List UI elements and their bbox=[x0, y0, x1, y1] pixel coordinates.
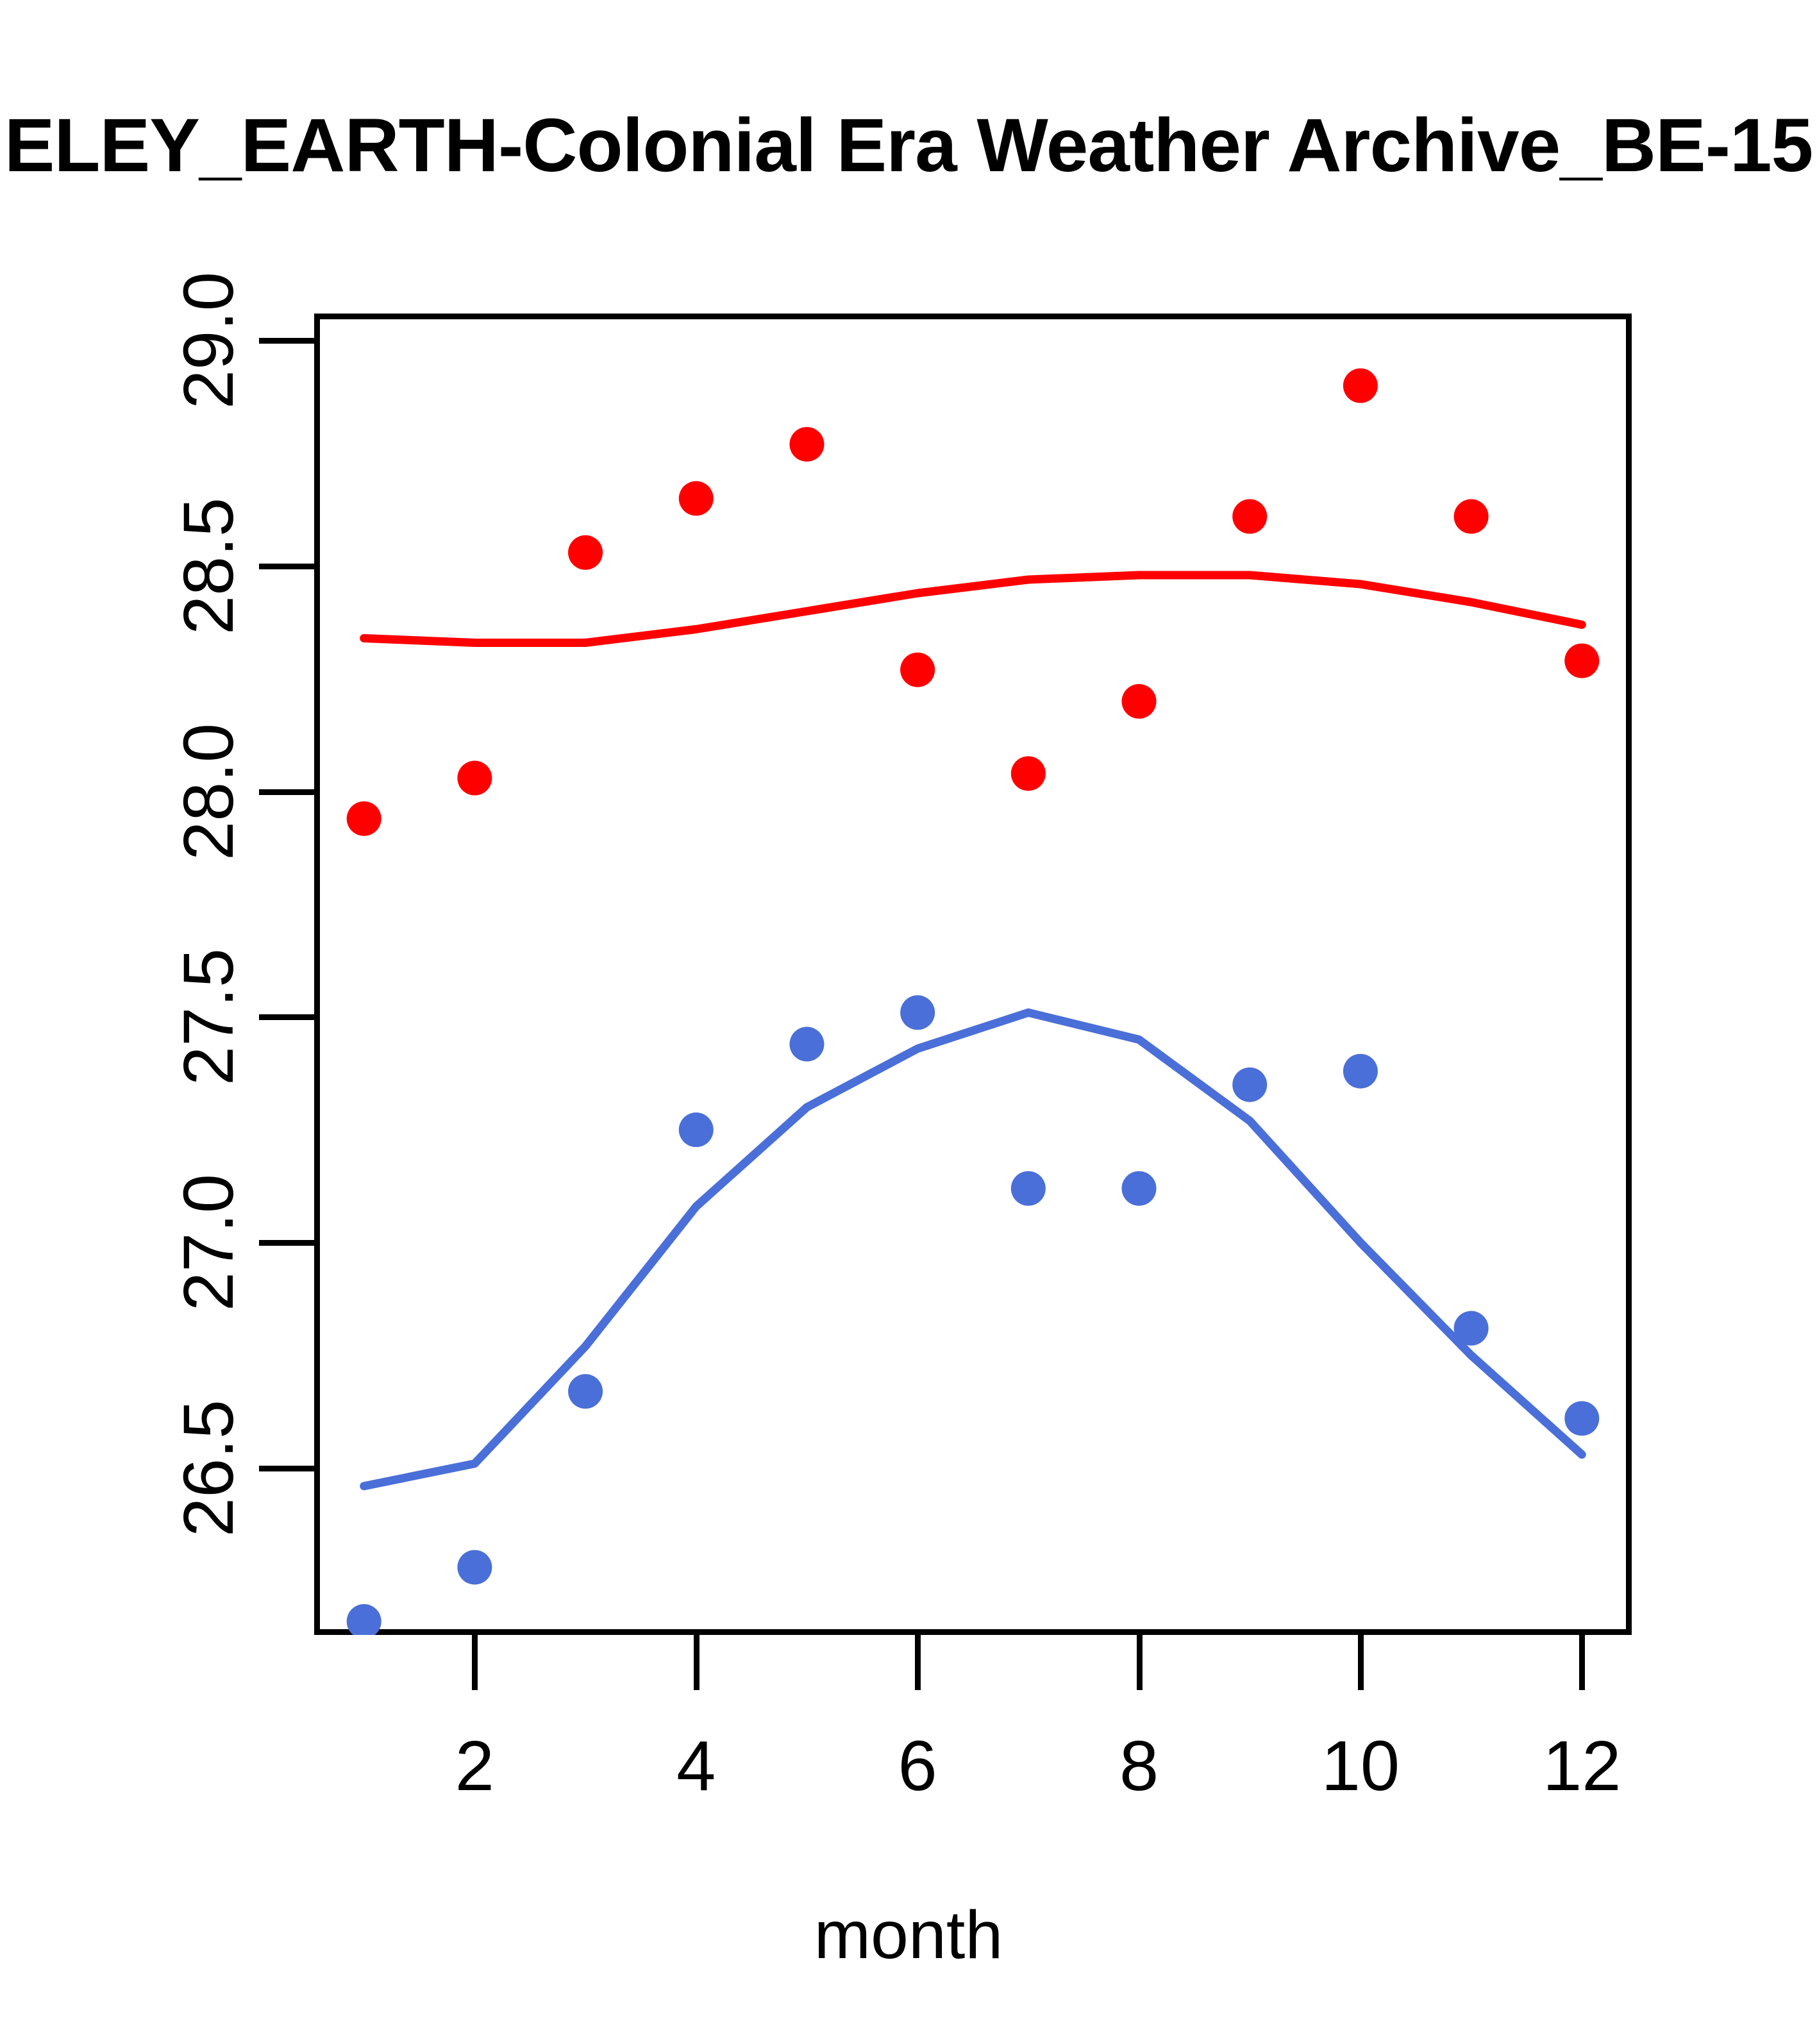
x-tick-label: 4 bbox=[600, 1731, 792, 1802]
x-tick-mark bbox=[1137, 1635, 1143, 1690]
data-point bbox=[679, 481, 714, 515]
data-point bbox=[568, 1374, 603, 1409]
y-tick-mark bbox=[259, 789, 314, 795]
x-tick-label: 8 bbox=[1043, 1731, 1235, 1802]
trend-line-blue-trend bbox=[364, 1012, 1582, 1486]
y-tick-label: 28.0 bbox=[174, 723, 244, 860]
y-tick-label: 27.5 bbox=[174, 948, 244, 1085]
data-point bbox=[1122, 1171, 1157, 1206]
x-tick-label: 12 bbox=[1486, 1731, 1678, 1802]
y-tick-mark bbox=[259, 1240, 314, 1246]
plot-canvas bbox=[314, 314, 1632, 1635]
data-point bbox=[789, 427, 824, 462]
x-tick-mark bbox=[1358, 1635, 1364, 1690]
y-tick-label: 28.5 bbox=[174, 498, 244, 635]
data-point bbox=[1011, 1171, 1046, 1206]
x-tick-label: 2 bbox=[378, 1731, 571, 1802]
y-tick-mark bbox=[259, 1014, 314, 1020]
data-point bbox=[568, 535, 603, 570]
y-tick-mark bbox=[259, 1466, 314, 1471]
data-point bbox=[1454, 499, 1489, 534]
data-point bbox=[1343, 1054, 1378, 1089]
data-point bbox=[347, 801, 381, 836]
trend-line-red-trend bbox=[364, 575, 1582, 643]
data-point bbox=[900, 653, 935, 687]
chart-page: ELEY_EARTH-Colonial Era Weather Archive_… bbox=[0, 0, 1817, 2044]
y-tick-mark bbox=[259, 338, 314, 344]
x-axis-title: month bbox=[0, 1901, 1817, 1969]
data-point bbox=[1232, 499, 1267, 534]
data-point bbox=[789, 1027, 824, 1062]
data-point bbox=[347, 1604, 381, 1635]
x-tick-mark bbox=[694, 1635, 699, 1690]
data-point bbox=[900, 995, 935, 1030]
x-tick-mark bbox=[915, 1635, 921, 1690]
data-point bbox=[457, 761, 492, 796]
data-point bbox=[1122, 684, 1157, 719]
x-tick-mark bbox=[1579, 1635, 1585, 1690]
data-point bbox=[1011, 756, 1046, 791]
data-point bbox=[1343, 369, 1378, 403]
y-tick-mark bbox=[259, 564, 314, 569]
data-point bbox=[1232, 1068, 1267, 1102]
data-point bbox=[679, 1112, 714, 1147]
y-tick-label: 26.5 bbox=[174, 1400, 244, 1537]
data-point bbox=[1564, 1401, 1599, 1436]
data-point bbox=[1564, 644, 1599, 678]
y-tick-label: 29.0 bbox=[174, 272, 244, 409]
x-tick-label: 10 bbox=[1264, 1731, 1457, 1802]
x-tick-mark bbox=[472, 1635, 478, 1690]
data-point bbox=[457, 1550, 492, 1584]
y-tick-label: 27.0 bbox=[174, 1174, 244, 1311]
x-tick-label: 6 bbox=[821, 1731, 1014, 1802]
chart-title: ELEY_EARTH-Colonial Era Weather Archive_… bbox=[4, 108, 1813, 183]
